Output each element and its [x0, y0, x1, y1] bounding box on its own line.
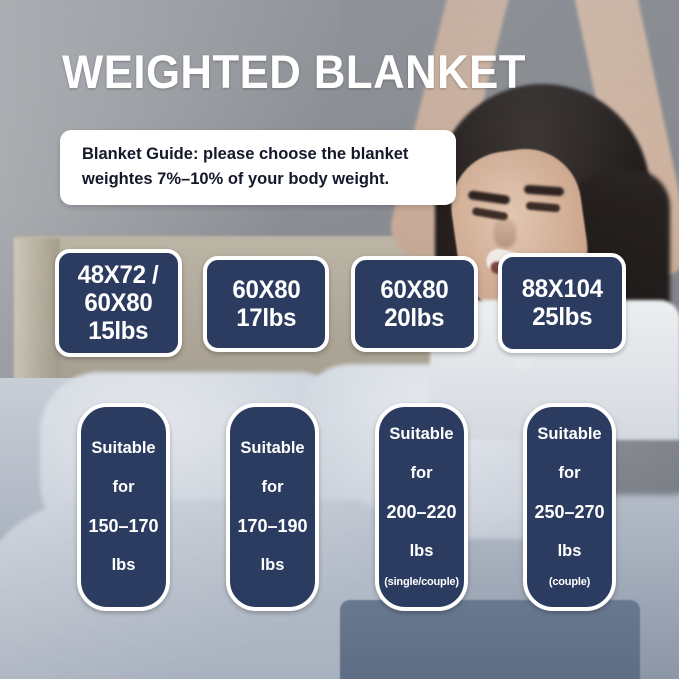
- suitability-1-range: 150–170: [88, 517, 158, 535]
- size-option-2-line-2: 17lbs: [236, 304, 296, 332]
- size-option-3[interactable]: 60X80 20lbs: [351, 256, 478, 352]
- size-option-3-line-1: 60X80: [381, 276, 449, 304]
- size-option-2[interactable]: 60X80 17lbs: [203, 256, 329, 352]
- suitability-3-range: 200–220: [386, 503, 456, 521]
- overlay-content: WEIGHTED BLANKET Blanket Guide: please c…: [0, 0, 679, 679]
- size-option-3-line-2: 20lbs: [385, 304, 445, 332]
- suitability-1-unit: lbs: [112, 557, 136, 574]
- guide-line-1: Blanket Guide: please choose the blanket: [82, 142, 438, 167]
- suitability-2-range: 170–190: [237, 517, 307, 535]
- suitability-3-label: Suitable: [389, 426, 453, 443]
- size-option-4-line-1: 88X104: [521, 275, 602, 303]
- suitability-3-unit: lbs: [410, 543, 434, 560]
- size-option-4[interactable]: 88X104 25lbs: [498, 253, 626, 353]
- suitability-option-3[interactable]: Suitable for 200–220 lbs (single/couple): [375, 403, 468, 611]
- size-option-1-line-2: 60X80: [85, 289, 153, 317]
- suitability-1-for: for: [113, 479, 135, 496]
- suitability-4-for: for: [559, 465, 581, 482]
- suitability-3-note: (single/couple): [384, 577, 459, 588]
- suitability-2-for: for: [262, 479, 284, 496]
- suitability-4-note: (couple): [549, 577, 590, 588]
- blanket-guide-callout: Blanket Guide: please choose the blanket…: [60, 130, 456, 205]
- size-option-2-line-1: 60X80: [232, 276, 300, 304]
- suitability-option-4[interactable]: Suitable for 250–270 lbs (couple): [523, 403, 616, 611]
- suitability-2-label: Suitable: [240, 440, 304, 457]
- suitability-option-2[interactable]: Suitable for 170–190 lbs: [226, 403, 319, 611]
- product-infographic: WEIGHTED BLANKET Blanket Guide: please c…: [0, 0, 679, 679]
- suitability-3-for: for: [411, 465, 433, 482]
- suitability-option-1[interactable]: Suitable for 150–170 lbs: [77, 403, 170, 611]
- suitability-4-range: 250–270: [534, 503, 604, 521]
- suitability-4-label: Suitable: [537, 426, 601, 443]
- size-option-1[interactable]: 48X72 / 60X80 15lbs: [55, 249, 182, 357]
- size-option-1-line-3: 15lbs: [89, 317, 149, 345]
- size-option-1-line-1: 48X72 /: [78, 261, 159, 289]
- suitability-4-unit: lbs: [558, 543, 582, 560]
- page-title: WEIGHTED BLANKET: [62, 44, 526, 99]
- guide-line-2: weightes 7%–10% of your body weight.: [82, 167, 438, 192]
- size-option-4-line-2: 25lbs: [532, 303, 592, 331]
- suitability-1-label: Suitable: [91, 440, 155, 457]
- suitability-2-unit: lbs: [261, 557, 285, 574]
